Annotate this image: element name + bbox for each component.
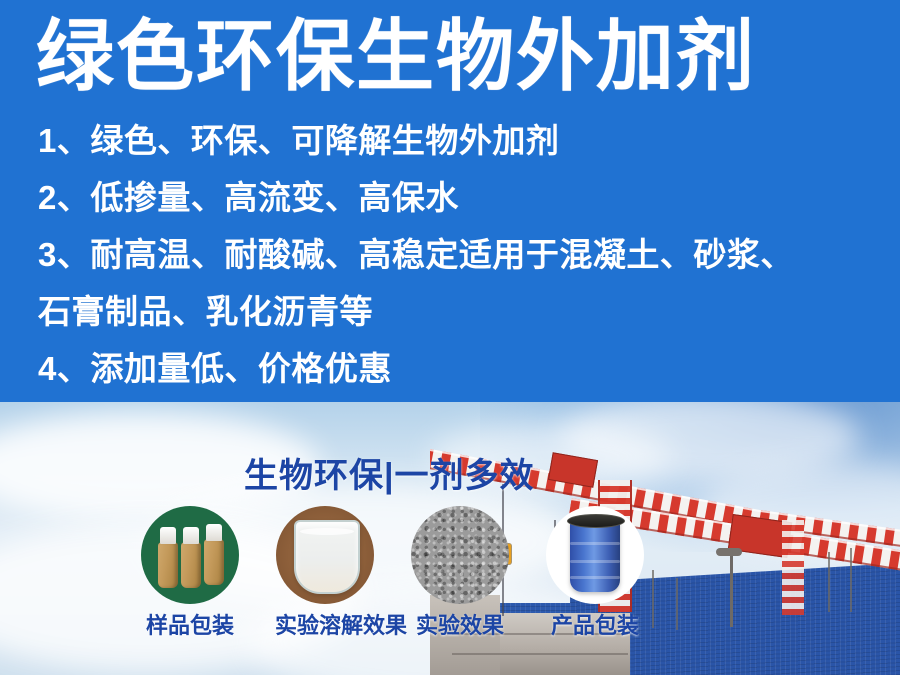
feature-item-2: 2、低掺量、高流变、高保水 — [38, 169, 878, 226]
drum-rib — [570, 560, 620, 563]
beaker-dissolution-icon — [276, 506, 374, 604]
feature-panel: 绿色环保生物外加剂 1、绿色、环保、可降解生物外加剂 2、低掺量、高流变、高保水… — [0, 0, 900, 402]
scaffold-pole — [828, 552, 830, 612]
product-item-product-packaging[interactable]: 产品包装 — [545, 506, 645, 639]
beaker-icon — [294, 520, 360, 594]
drum-body — [570, 518, 620, 592]
product-item-test-result[interactable]: 实验效果 — [410, 506, 510, 639]
product-poster: 绿色环保生物外加剂 1、绿色、环保、可降解生物外加剂 2、低掺量、高流变、高保水… — [0, 0, 900, 675]
page-title: 绿色环保生物外加剂 — [36, 6, 756, 106]
bottle-icon — [204, 539, 224, 585]
product-item-sample-packaging[interactable]: 样品包装 — [140, 506, 240, 639]
scaffold-pole — [850, 548, 852, 612]
product-label: 样品包装 — [140, 613, 240, 639]
blue-drum-icon — [546, 506, 644, 604]
product-item-dissolution-test[interactable]: 实验溶解效果 — [275, 506, 375, 639]
product-label: 实验溶解效果 — [275, 613, 375, 639]
product-label: 产品包装 — [545, 613, 645, 639]
product-showcase-row: 样品包装 实验溶解效果 实验效果 产品包装 — [140, 506, 760, 656]
feature-list: 1、绿色、环保、可降解生物外加剂 2、低掺量、高流变、高保水 3、耐高温、耐酸碱… — [38, 112, 878, 397]
drum-lid — [567, 514, 625, 528]
sample-bottles-icon — [141, 506, 239, 604]
crane-mast — [782, 520, 804, 615]
concrete-texture-icon — [411, 506, 509, 604]
bottle-icon — [158, 542, 178, 588]
photo-headline: 生物环保|一剂多效 — [244, 456, 535, 496]
feature-item-3-continued: 石膏制品、乳化沥青等 — [38, 283, 878, 340]
drum-rib — [570, 542, 620, 545]
drum-rib — [570, 576, 620, 579]
feature-item-1: 1、绿色、环保、可降解生物外加剂 — [38, 112, 878, 169]
feature-item-4: 4、添加量低、价格优惠 — [38, 340, 878, 397]
feature-item-3: 3、耐高温、耐酸碱、高稳定适用于混凝土、砂浆、 — [38, 226, 878, 283]
product-label: 实验效果 — [410, 613, 510, 639]
bottle-icon — [181, 542, 201, 588]
